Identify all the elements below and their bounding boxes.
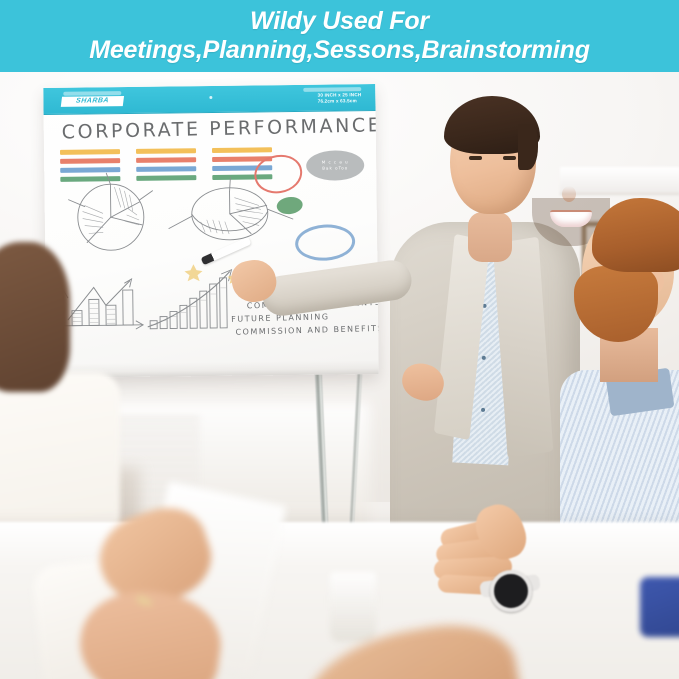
size-highlight-bar	[303, 87, 361, 92]
green-dot-shape	[276, 196, 304, 216]
pad-size-cm: 76.2cm x 63.5cm	[318, 98, 362, 105]
flipchart-header-strip: SHARBA 30 INCH x 25 INCH 76.2cm x 63.5cm	[43, 84, 375, 115]
color-bar	[136, 166, 196, 172]
color-bar	[60, 167, 120, 173]
bar-chart-2	[147, 270, 232, 329]
presenter-hair-side	[518, 124, 538, 170]
color-bar	[212, 147, 272, 153]
color-bar	[60, 149, 120, 155]
gray-oval-text-line-2: Bak oToo	[322, 165, 348, 171]
shirt-button	[481, 408, 485, 412]
color-bar-group-2	[136, 148, 196, 185]
brand-highlight-bar	[63, 91, 121, 96]
color-bar	[136, 175, 196, 181]
foreground-hands-with-paper	[40, 502, 240, 679]
shirt-button	[482, 356, 486, 360]
pie-chart-exploded	[77, 184, 144, 251]
brand-logo: SHARBA	[61, 96, 124, 107]
bearded-man-hair	[592, 198, 679, 272]
woman-left-hair	[0, 242, 70, 392]
pad-size-label: 30 INCH x 25 INCH 76.2cm x 63.5cm	[318, 92, 362, 105]
blue-oval-shape	[294, 223, 356, 263]
board-title: CORPORATE PERFORMANCE	[62, 114, 379, 143]
banner-headline: Wildy Used For	[250, 7, 429, 35]
pie-chart-tilted	[191, 187, 268, 240]
color-bar	[60, 176, 120, 182]
board-list-item: COMMISSION AND BENEFITS	[235, 322, 378, 339]
drinking-glass	[330, 572, 376, 642]
color-bar	[60, 158, 120, 164]
color-bar-group-1	[60, 149, 120, 186]
banner-subheadline: Meetings,Planning,Sessons,Brainstorming	[89, 35, 590, 65]
color-bar	[136, 148, 196, 154]
presenter-neck	[468, 212, 512, 262]
eye-left	[469, 156, 482, 160]
eye-right	[503, 156, 516, 160]
color-bar	[136, 157, 196, 163]
punch-hole	[209, 96, 212, 99]
product-lifestyle-image: SHARBA 30 INCH x 25 INCH 76.2cm x 63.5cm…	[0, 0, 679, 679]
promo-banner: Wildy Used For Meetings,Planning,Sessons…	[0, 0, 679, 72]
meeting-room-scene: SHARBA 30 INCH x 25 INCH 76.2cm x 63.5cm…	[0, 72, 679, 679]
wristwatch	[490, 570, 532, 612]
gray-oval-shape: M c c a u Bak oToo	[306, 150, 364, 181]
blue-object	[640, 577, 679, 637]
clasped-hands	[430, 492, 600, 622]
